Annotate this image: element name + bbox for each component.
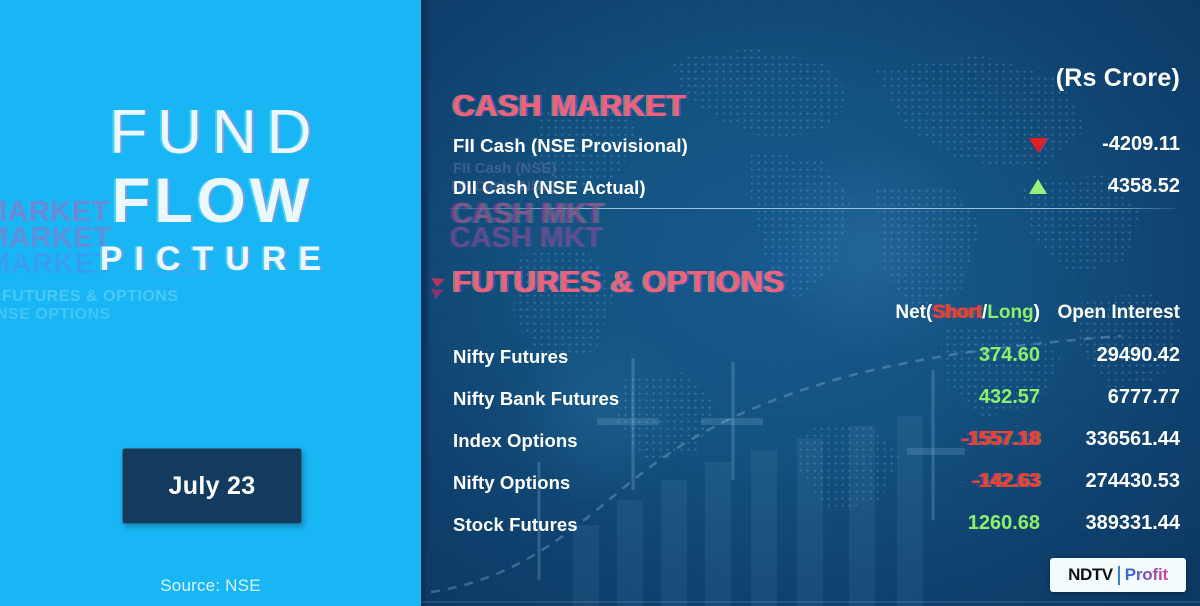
- arrow-up-icon: [1029, 179, 1047, 194]
- date-badge: July 23: [122, 448, 302, 524]
- row-net-nifty-futures: 374.60: [979, 344, 1040, 367]
- logo-profit-word: Profit: [1125, 565, 1168, 585]
- ghost-artifact-text: FUTURES & OPTIONS: [2, 288, 179, 306]
- row-net-index-options: -1557.18: [961, 428, 1040, 451]
- brand-title-block: FUND FLOW PICTURE: [0, 102, 421, 276]
- net-short-word: Short: [932, 302, 982, 323]
- ndtv-profit-logo: NDTV Profit: [1050, 558, 1186, 592]
- date-badge-label: July 23: [169, 472, 256, 501]
- net-prefix: Net(: [895, 302, 932, 323]
- section-title-futures-options: FUTURES & OPTIONS: [453, 264, 785, 300]
- brand-line-flow: FLOW: [0, 170, 421, 233]
- fund-flow-graphic: MARKET MARKET MARKET FUTURES & OPTIONS N…: [0, 0, 1200, 606]
- row-value-fii-cash: -4209.11: [1102, 133, 1180, 156]
- ghost-artifact-text: NSE OPTIONS: [0, 306, 111, 324]
- source-label: Source: NSE: [0, 576, 421, 596]
- unit-label: (Rs Crore): [1056, 64, 1180, 93]
- row-label-index-options: Index Options: [453, 430, 578, 452]
- net-long-word: Long: [987, 302, 1033, 323]
- row-label-nifty-futures: Nifty Futures: [453, 346, 568, 368]
- logo-ndtv-word: NDTV: [1068, 565, 1113, 585]
- row-oi-nifty-bank-futures: 6777.77: [1108, 386, 1180, 409]
- row-oi-stock-futures: 389331.44: [1085, 512, 1180, 535]
- logo-separator-bar: [1118, 566, 1120, 585]
- row-net-nifty-bank-futures: 432.57: [979, 386, 1040, 409]
- row-oi-nifty-options: 274430.53: [1085, 470, 1180, 493]
- row-oi-nifty-futures: 29490.42: [1097, 344, 1180, 367]
- data-panel: (Rs Crore) CASH MARKET FII Cash (NSE Pro…: [421, 0, 1200, 606]
- brand-line-fund: FUND: [0, 102, 421, 164]
- row-label-nifty-bank-futures: Nifty Bank Futures: [453, 388, 619, 410]
- section-marker-icon: [431, 278, 445, 300]
- brand-panel: MARKET MARKET MARKET FUTURES & OPTIONS N…: [0, 0, 421, 606]
- row-value-dii-cash: 4358.52: [1108, 175, 1180, 198]
- row-label-dii-cash: DII Cash (NSE Actual): [453, 177, 646, 199]
- section-title-cash-market: CASH MARKET: [453, 88, 686, 124]
- row-oi-index-options: 336561.44: [1085, 428, 1180, 451]
- arrow-down-icon: [1029, 138, 1047, 153]
- section-divider: [449, 208, 1175, 209]
- brand-line-picture: PICTURE: [0, 242, 421, 276]
- row-label-fii-cash: FII Cash (NSE Provisional): [453, 135, 688, 157]
- row-label-stock-futures: Stock Futures: [453, 514, 578, 536]
- net-suffix: ): [1034, 302, 1040, 323]
- column-header-open-interest: Open Interest: [1058, 302, 1180, 324]
- row-net-nifty-options: -142.63: [972, 470, 1040, 493]
- row-net-stock-futures: 1260.68: [968, 512, 1040, 535]
- row-label-nifty-options: Nifty Options: [453, 472, 570, 494]
- column-header-net: Net(Short/Long): [895, 302, 1040, 324]
